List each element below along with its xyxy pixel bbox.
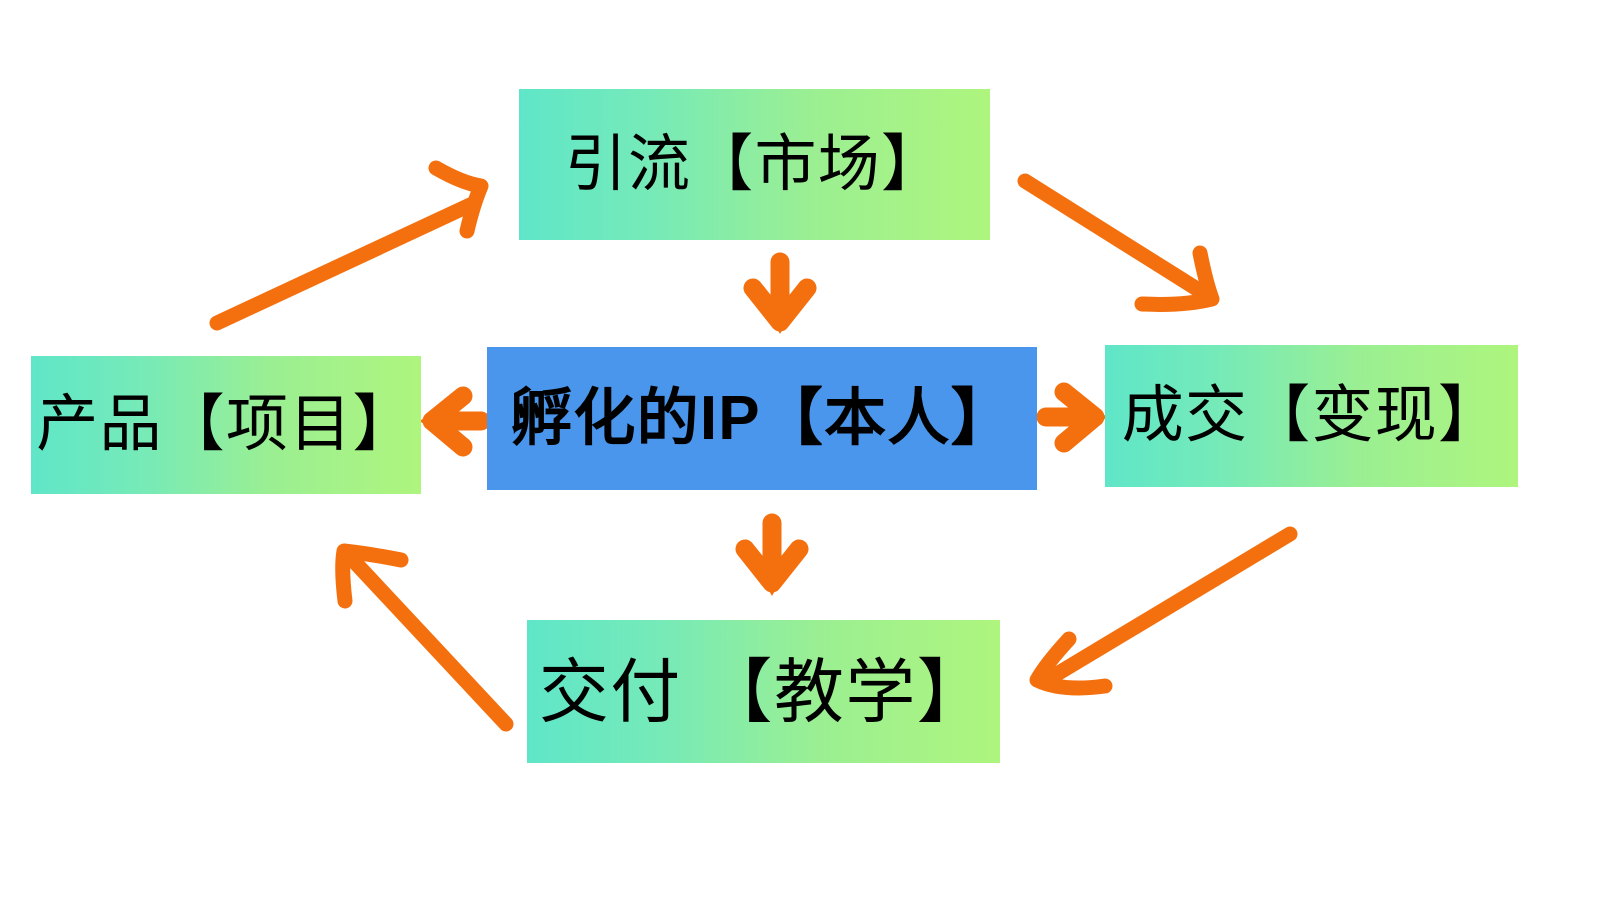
node-traffic[interactable]: 引流【市场】 — [519, 89, 990, 240]
node-traffic-label: 引流【市场】 — [519, 134, 990, 196]
node-deal[interactable]: 成交【变现】 — [1105, 345, 1518, 487]
node-delivery[interactable]: 交付 【教学】 — [527, 620, 1000, 763]
node-ip-label: 孵化的IP【本人】 — [487, 388, 1037, 450]
node-delivery-label: 交付 【教学】 — [527, 657, 1000, 727]
arrow-deal-to-delivery — [1037, 534, 1290, 688]
node-product[interactable]: 产品【项目】 — [31, 356, 421, 494]
arrow-delivery-to-product — [343, 551, 506, 724]
node-deal-label: 成交【变现】 — [1105, 385, 1518, 447]
node-product-label: 产品【项目】 — [31, 394, 421, 456]
diagram-canvas: 引流【市场】 产品【项目】 孵化的IP【本人】 成交【变现】 交付 【教学】 — [0, 0, 1600, 900]
arrow-traffic-to-ip — [753, 262, 807, 334]
arrow-ip-to-delivery — [745, 523, 799, 596]
arrow-ip-to-deal — [1046, 392, 1108, 443]
arrow-ip-to-product — [419, 396, 481, 447]
arrow-traffic-to-deal — [1025, 181, 1212, 304]
arrow-product-to-traffic — [217, 168, 481, 323]
node-ip[interactable]: 孵化的IP【本人】 — [487, 347, 1037, 490]
